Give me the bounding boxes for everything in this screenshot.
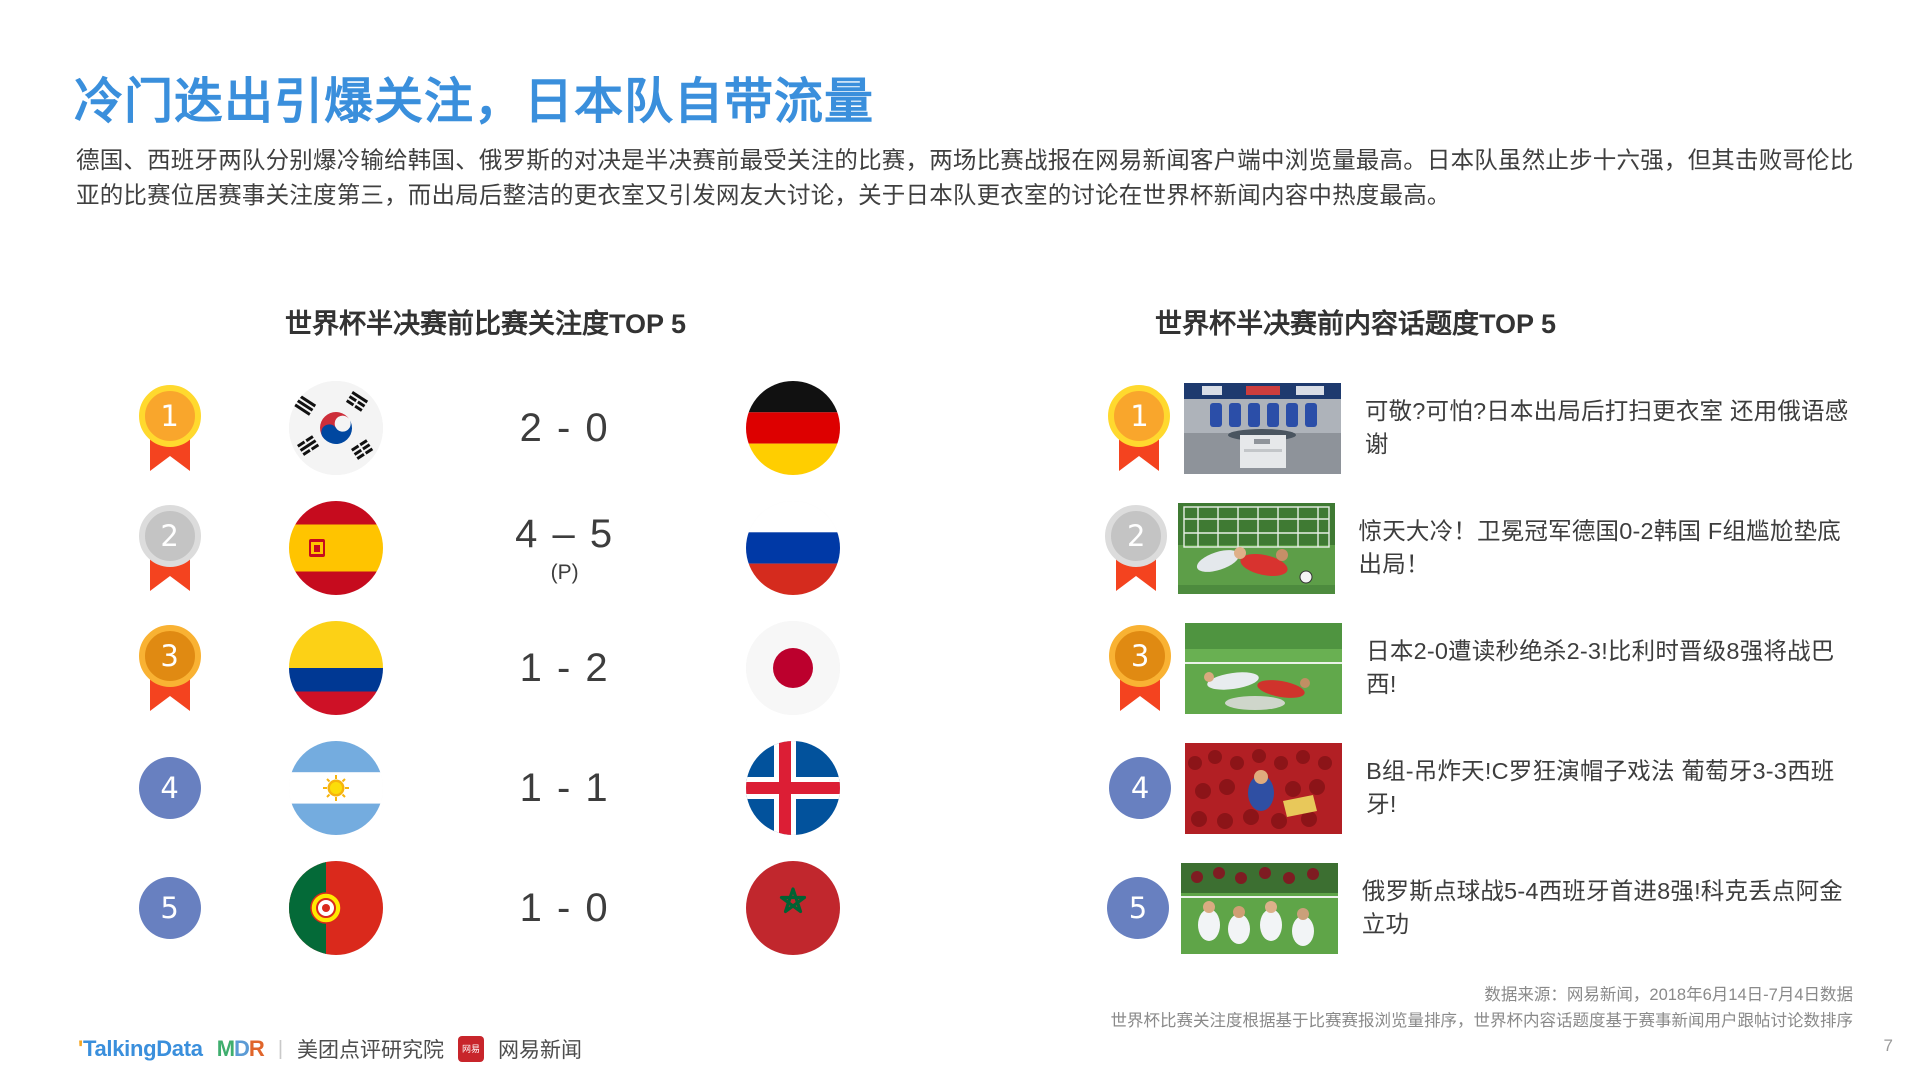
match-attention-list: 1 2 - 0 xyxy=(110,368,900,968)
match-rank-cell: 4 xyxy=(110,757,229,819)
match-row: 1 2 - 0 xyxy=(110,368,900,488)
intro-paragraph: 德国、西班牙两队分别爆冷输给韩国、俄罗斯的对决是半决赛前最受关注的比赛，两场比赛… xyxy=(76,143,1866,213)
match-score-main: 1 - 2 xyxy=(520,646,610,690)
match-row: 2 4 – 5 (P) xyxy=(110,488,900,608)
news-rank-badge: 2 xyxy=(1105,505,1167,591)
flag-is-icon xyxy=(746,741,840,835)
netease-mark-icon: 网易 xyxy=(458,1036,484,1062)
news-title[interactable]: 惊天大冷！卫冕冠军德国0-2韩国 F组尴尬垫底出局！ xyxy=(1359,515,1855,581)
talkingdata-logo: 'TalkingData xyxy=(78,1036,203,1062)
logo-bar: 'TalkingData MDR | 美团点评研究院 网易 网易新闻 xyxy=(78,1034,582,1064)
source-line-1: 数据来源：网易新闻，2018年6月14日-7月4日数据 xyxy=(1111,982,1854,1008)
flag-pt-icon xyxy=(289,861,383,955)
flag-ar-icon xyxy=(289,741,383,835)
red-crowd-photo[interactable] xyxy=(1185,743,1342,834)
home-team-cell xyxy=(229,381,443,475)
news-rank-badge: 5 xyxy=(1107,877,1169,939)
news-row[interactable]: 2 惊天大冷！卫冕冠军德国0-2韩国 F组尴尬垫底出局！ xyxy=(1095,488,1855,608)
match-row: 4 1 - 1 xyxy=(110,728,900,848)
match-rank-badge: 1 xyxy=(139,385,201,471)
flag-ru-icon xyxy=(746,501,840,595)
flag-de-icon xyxy=(746,381,840,475)
news-row[interactable]: 4 B组-吊炸天!C罗狂演帽子戏法 葡萄牙3-3西班牙! xyxy=(1095,728,1855,848)
locker-room-photo[interactable] xyxy=(1184,383,1341,474)
right-section-heading: 世界杯半决赛前内容话题度TOP 5 xyxy=(1155,302,1556,341)
rank-number: 3 xyxy=(139,625,201,687)
rank-number: 1 xyxy=(1108,385,1170,447)
rank-number: 2 xyxy=(139,505,201,567)
match-row: 5 1 - 0 xyxy=(110,848,900,968)
news-row[interactable]: 1 可敬?可怕?日本出局后打扫更衣室 还用俄语感谢 xyxy=(1095,368,1855,488)
rank-number: 5 xyxy=(1107,877,1169,939)
page-title: 冷门迭出引爆关注，日本队自带流量 xyxy=(74,62,874,133)
match-rank-cell: 5 xyxy=(110,877,229,939)
match-rank-badge: 5 xyxy=(139,877,201,939)
away-team-cell xyxy=(686,861,900,955)
home-team-cell xyxy=(229,501,443,595)
source-note: 数据来源：网易新闻，2018年6月14日-7月4日数据 世界杯比赛关注度根据基于… xyxy=(1111,982,1854,1034)
match-rank-cell: 3 xyxy=(110,625,229,711)
home-team-cell xyxy=(229,861,443,955)
flag-kr-icon xyxy=(289,381,383,475)
news-row[interactable]: 5 俄罗斯点球战5-4西班牙首进8强!科克丢点阿金立功 xyxy=(1095,848,1855,968)
news-title[interactable]: 日本2-0遭读秒绝杀2-3!比利时晋级8强将战巴西! xyxy=(1366,635,1855,701)
meituan-logo-label: 美团点评研究院 xyxy=(297,1034,444,1064)
goal-save-photo[interactable] xyxy=(1178,503,1335,594)
match-score: 1 - 0 xyxy=(443,888,686,928)
away-team-cell xyxy=(686,501,900,595)
match-score-main: 2 - 0 xyxy=(520,406,610,450)
away-team-cell xyxy=(686,621,900,715)
match-score: 4 – 5 (P) xyxy=(443,514,686,583)
celebration-photo[interactable] xyxy=(1181,863,1338,954)
news-rank-cell: 3 xyxy=(1095,625,1185,711)
news-title[interactable]: 俄罗斯点球战5-4西班牙首进8强!科克丢点阿金立功 xyxy=(1362,875,1855,941)
home-team-cell xyxy=(229,621,443,715)
flag-ma-icon xyxy=(746,861,840,955)
news-rank-badge: 1 xyxy=(1108,385,1170,471)
rank-number: 4 xyxy=(1109,757,1171,819)
news-rank-cell: 4 xyxy=(1095,757,1185,819)
match-rank-badge: 2 xyxy=(139,505,201,591)
match-score-main: 1 - 0 xyxy=(520,886,610,930)
rank-number: 3 xyxy=(1109,625,1171,687)
news-title[interactable]: 可敬?可怕?日本出局后打扫更衣室 还用俄语感谢 xyxy=(1365,395,1855,461)
page-number: 7 xyxy=(1884,1036,1893,1056)
match-rank-badge: 3 xyxy=(139,625,201,711)
flag-co-icon xyxy=(289,621,383,715)
rank-number: 5 xyxy=(139,877,201,939)
news-row[interactable]: 3 日本2-0遭读秒绝杀2-3!比利时晋级8强将战巴西! xyxy=(1095,608,1855,728)
news-rank-cell: 5 xyxy=(1095,877,1181,939)
mdr-logo: MDR xyxy=(217,1036,264,1062)
flag-jp-icon xyxy=(746,621,840,715)
pitch-tackle-photo[interactable] xyxy=(1185,623,1342,714)
news-rank-cell: 1 xyxy=(1095,385,1184,471)
left-section-heading: 世界杯半决赛前比赛关注度TOP 5 xyxy=(285,302,686,341)
flag-es-icon xyxy=(289,501,383,595)
logo-divider: | xyxy=(278,1038,283,1061)
news-title[interactable]: B组-吊炸天!C罗狂演帽子戏法 葡萄牙3-3西班牙! xyxy=(1366,755,1855,821)
away-team-cell xyxy=(686,741,900,835)
match-score: 1 - 1 xyxy=(443,768,686,808)
source-line-2: 世界杯比赛关注度根据基于比赛赛报浏览量排序，世界杯内容话题度基于赛事新闻用户跟帖… xyxy=(1111,1008,1854,1034)
news-topic-list: 1 可敬?可怕?日本出局后打扫更衣室 还用俄语感谢 2 xyxy=(1095,368,1855,968)
news-rank-badge: 4 xyxy=(1109,757,1171,819)
home-team-cell xyxy=(229,741,443,835)
rank-number: 1 xyxy=(139,385,201,447)
talkingdata-logo-label: TalkingData xyxy=(83,1036,203,1061)
rank-number: 2 xyxy=(1105,505,1167,567)
news-rank-badge: 3 xyxy=(1109,625,1171,711)
match-row: 3 1 - 2 xyxy=(110,608,900,728)
match-rank-badge: 4 xyxy=(139,757,201,819)
match-rank-cell: 2 xyxy=(110,505,229,591)
match-rank-cell: 1 xyxy=(110,385,229,471)
match-score-main: 4 – 5 xyxy=(515,512,614,556)
match-score: 2 - 0 xyxy=(443,408,686,448)
match-score-note: (P) xyxy=(443,562,686,583)
news-rank-cell: 2 xyxy=(1095,505,1178,591)
netease-logo-label: 网易新闻 xyxy=(498,1034,582,1064)
away-team-cell xyxy=(686,381,900,475)
rank-number: 4 xyxy=(139,757,201,819)
match-score: 1 - 2 xyxy=(443,648,686,688)
match-score-main: 1 - 1 xyxy=(520,766,610,810)
